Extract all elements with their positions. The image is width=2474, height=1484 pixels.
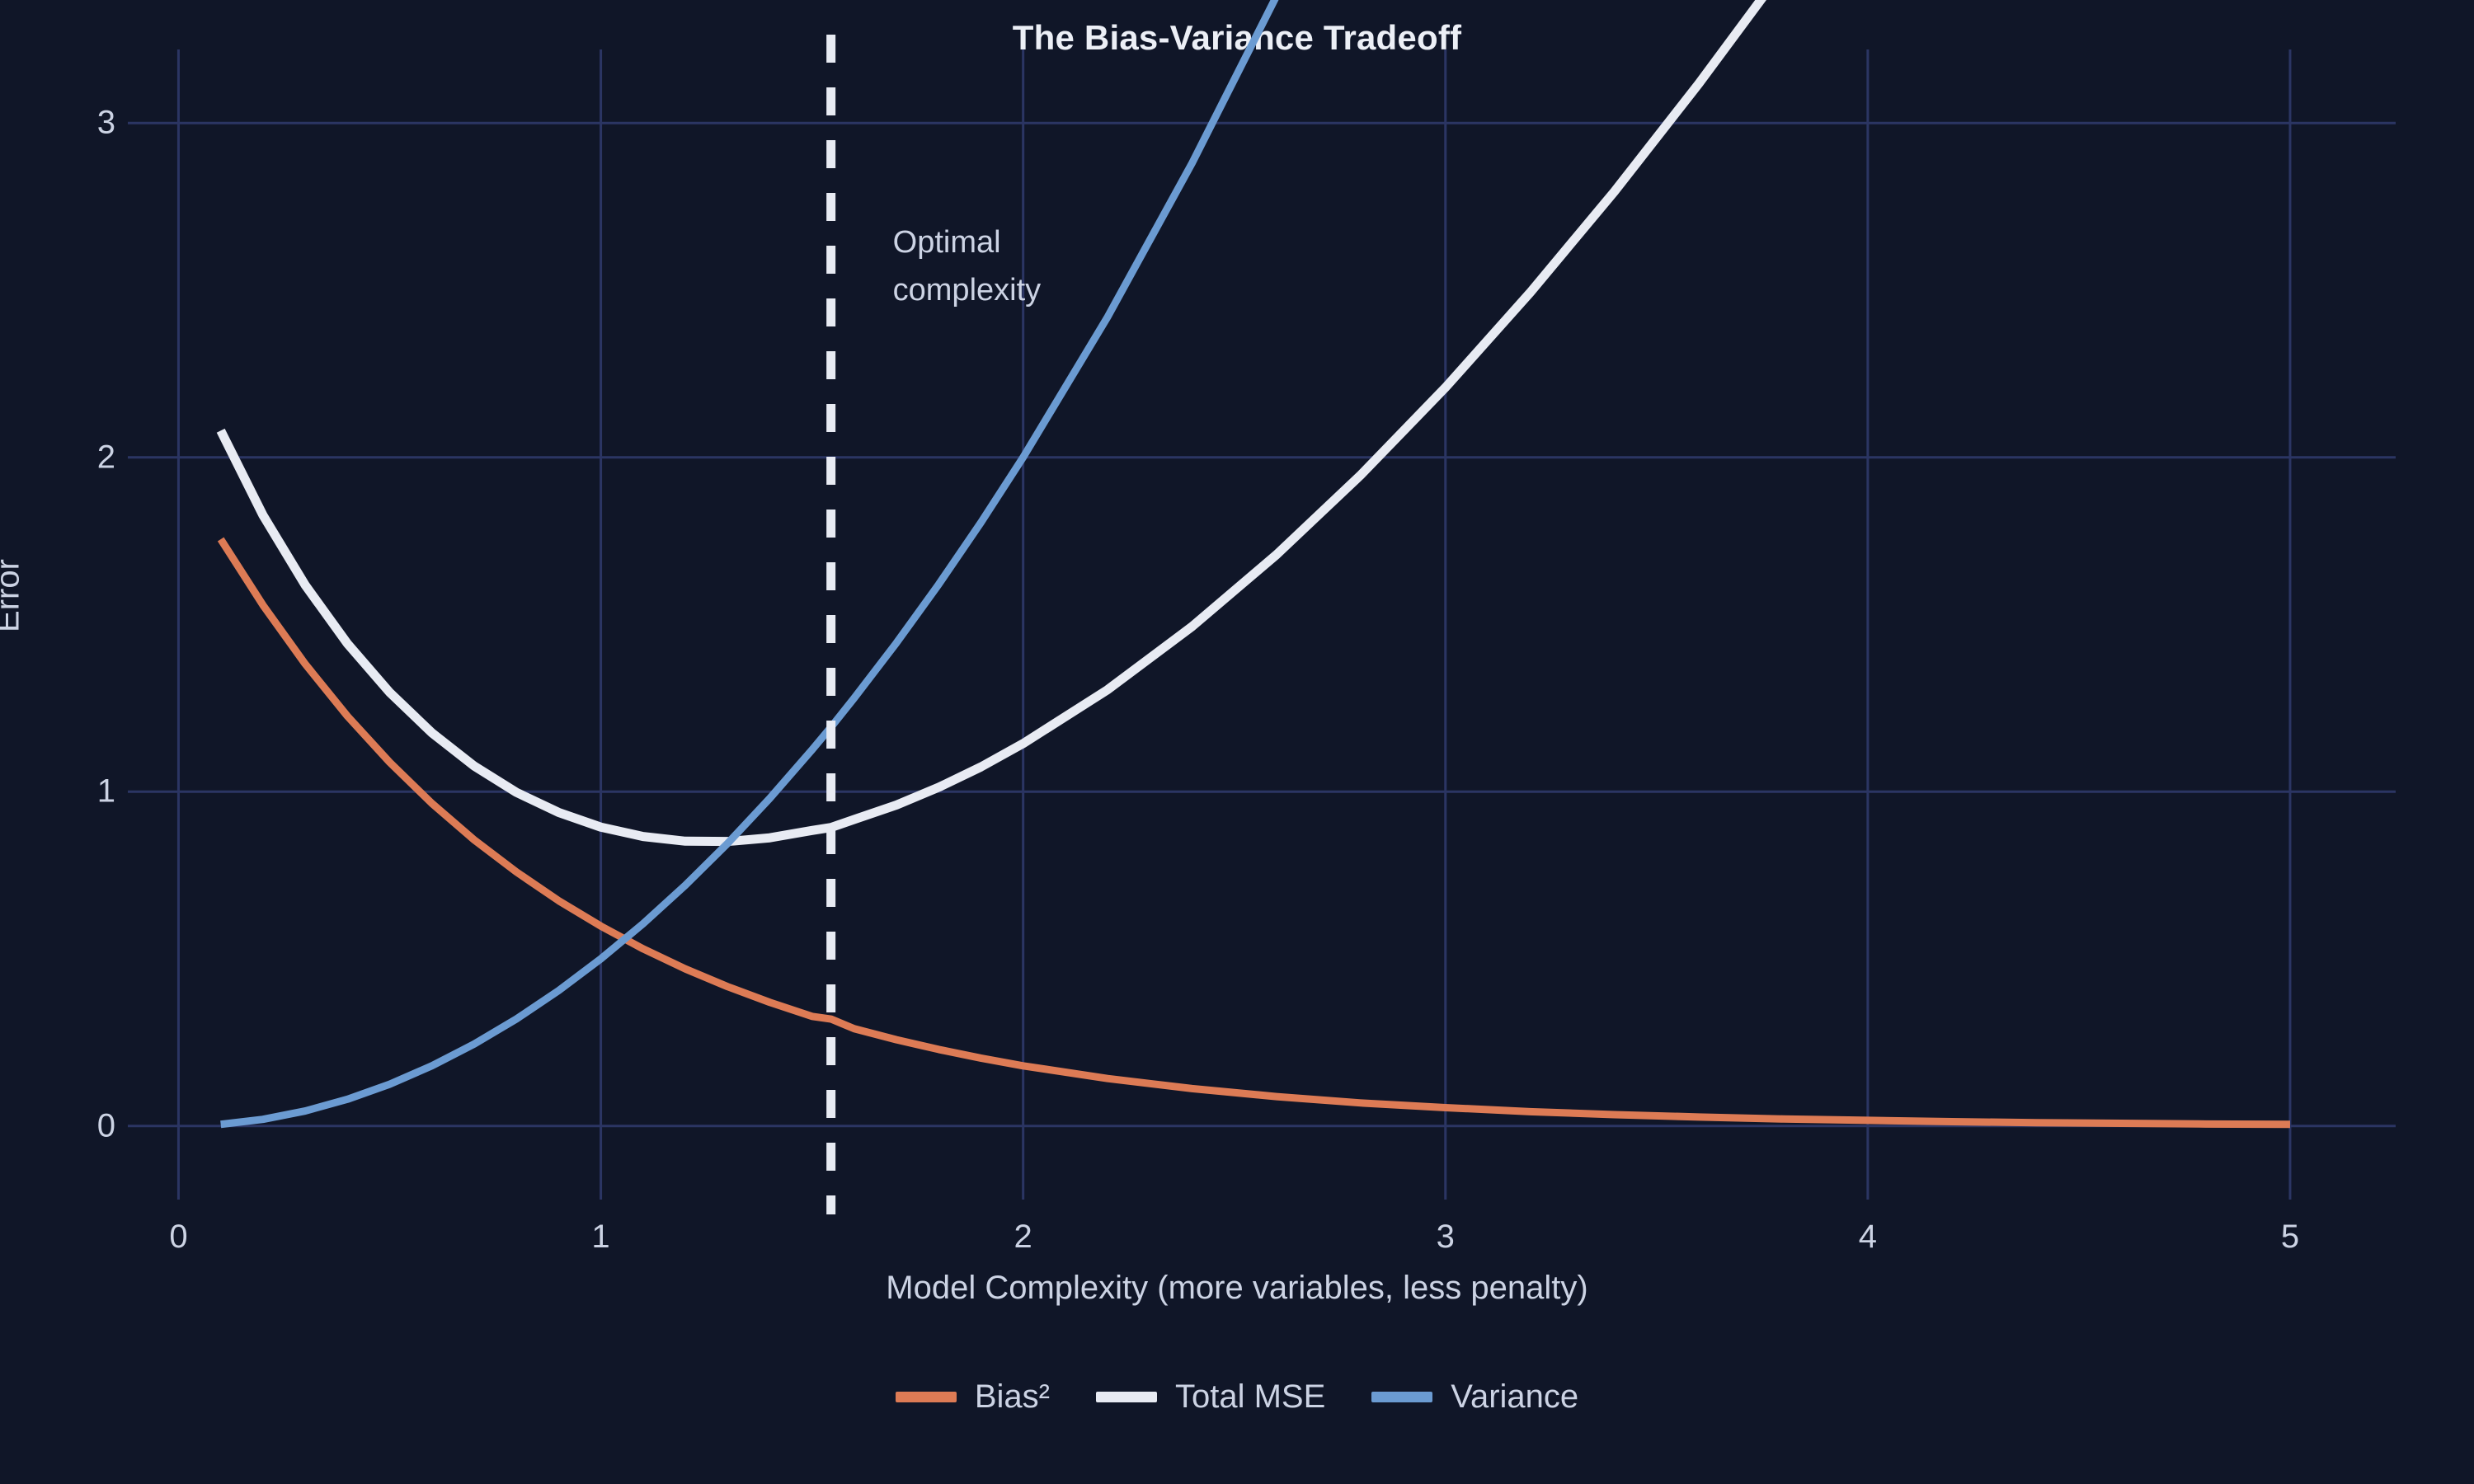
x-tick-label: 4: [1859, 1219, 1877, 1256]
legend-color-swatch: [1096, 1392, 1157, 1402]
legend-item[interactable]: Bias²: [896, 1378, 1050, 1416]
series-line: [221, 0, 1784, 842]
x-tick-label: 1: [591, 1219, 609, 1256]
chart-figure: The Bias-Variance Tradeoff 0123 012345 O…: [0, 0, 2474, 1484]
legend-label: Total MSE: [1175, 1378, 1325, 1416]
legend-label: Variance: [1451, 1378, 1578, 1416]
x-tick-label: 5: [2281, 1219, 2299, 1256]
x-tick-label: 0: [169, 1219, 187, 1256]
legend-item[interactable]: Total MSE: [1096, 1378, 1325, 1416]
x-tick-label: 3: [1437, 1219, 1455, 1256]
y-tick-label: 2: [97, 439, 115, 476]
y-axis-title: Error: [0, 559, 27, 632]
y-tick-label: 0: [97, 1107, 115, 1144]
plot-area: [128, 49, 2396, 1200]
x-axis-title: Model Complexity (more variables, less p…: [0, 1270, 2474, 1307]
grid-lines: [128, 49, 2396, 1200]
optimal-complexity-annotation: Optimal complexity: [893, 218, 1042, 314]
plot-svg: [128, 49, 2396, 1200]
x-tick-label: 2: [1014, 1219, 1032, 1256]
series-line: [221, 539, 2290, 1125]
legend-item[interactable]: Variance: [1371, 1378, 1578, 1416]
series-line: [221, 0, 1277, 1125]
x-axis-tick-labels: 012345: [0, 1219, 2474, 1261]
data-series-layer: [221, 0, 2290, 1125]
legend-color-swatch: [896, 1392, 957, 1402]
y-tick-label: 3: [97, 105, 115, 142]
legend-color-swatch: [1371, 1392, 1432, 1402]
legend-label: Bias²: [975, 1378, 1050, 1416]
y-tick-label: 1: [97, 773, 115, 810]
chart-legend: Bias²Total MSEVariance: [0, 1378, 2474, 1416]
